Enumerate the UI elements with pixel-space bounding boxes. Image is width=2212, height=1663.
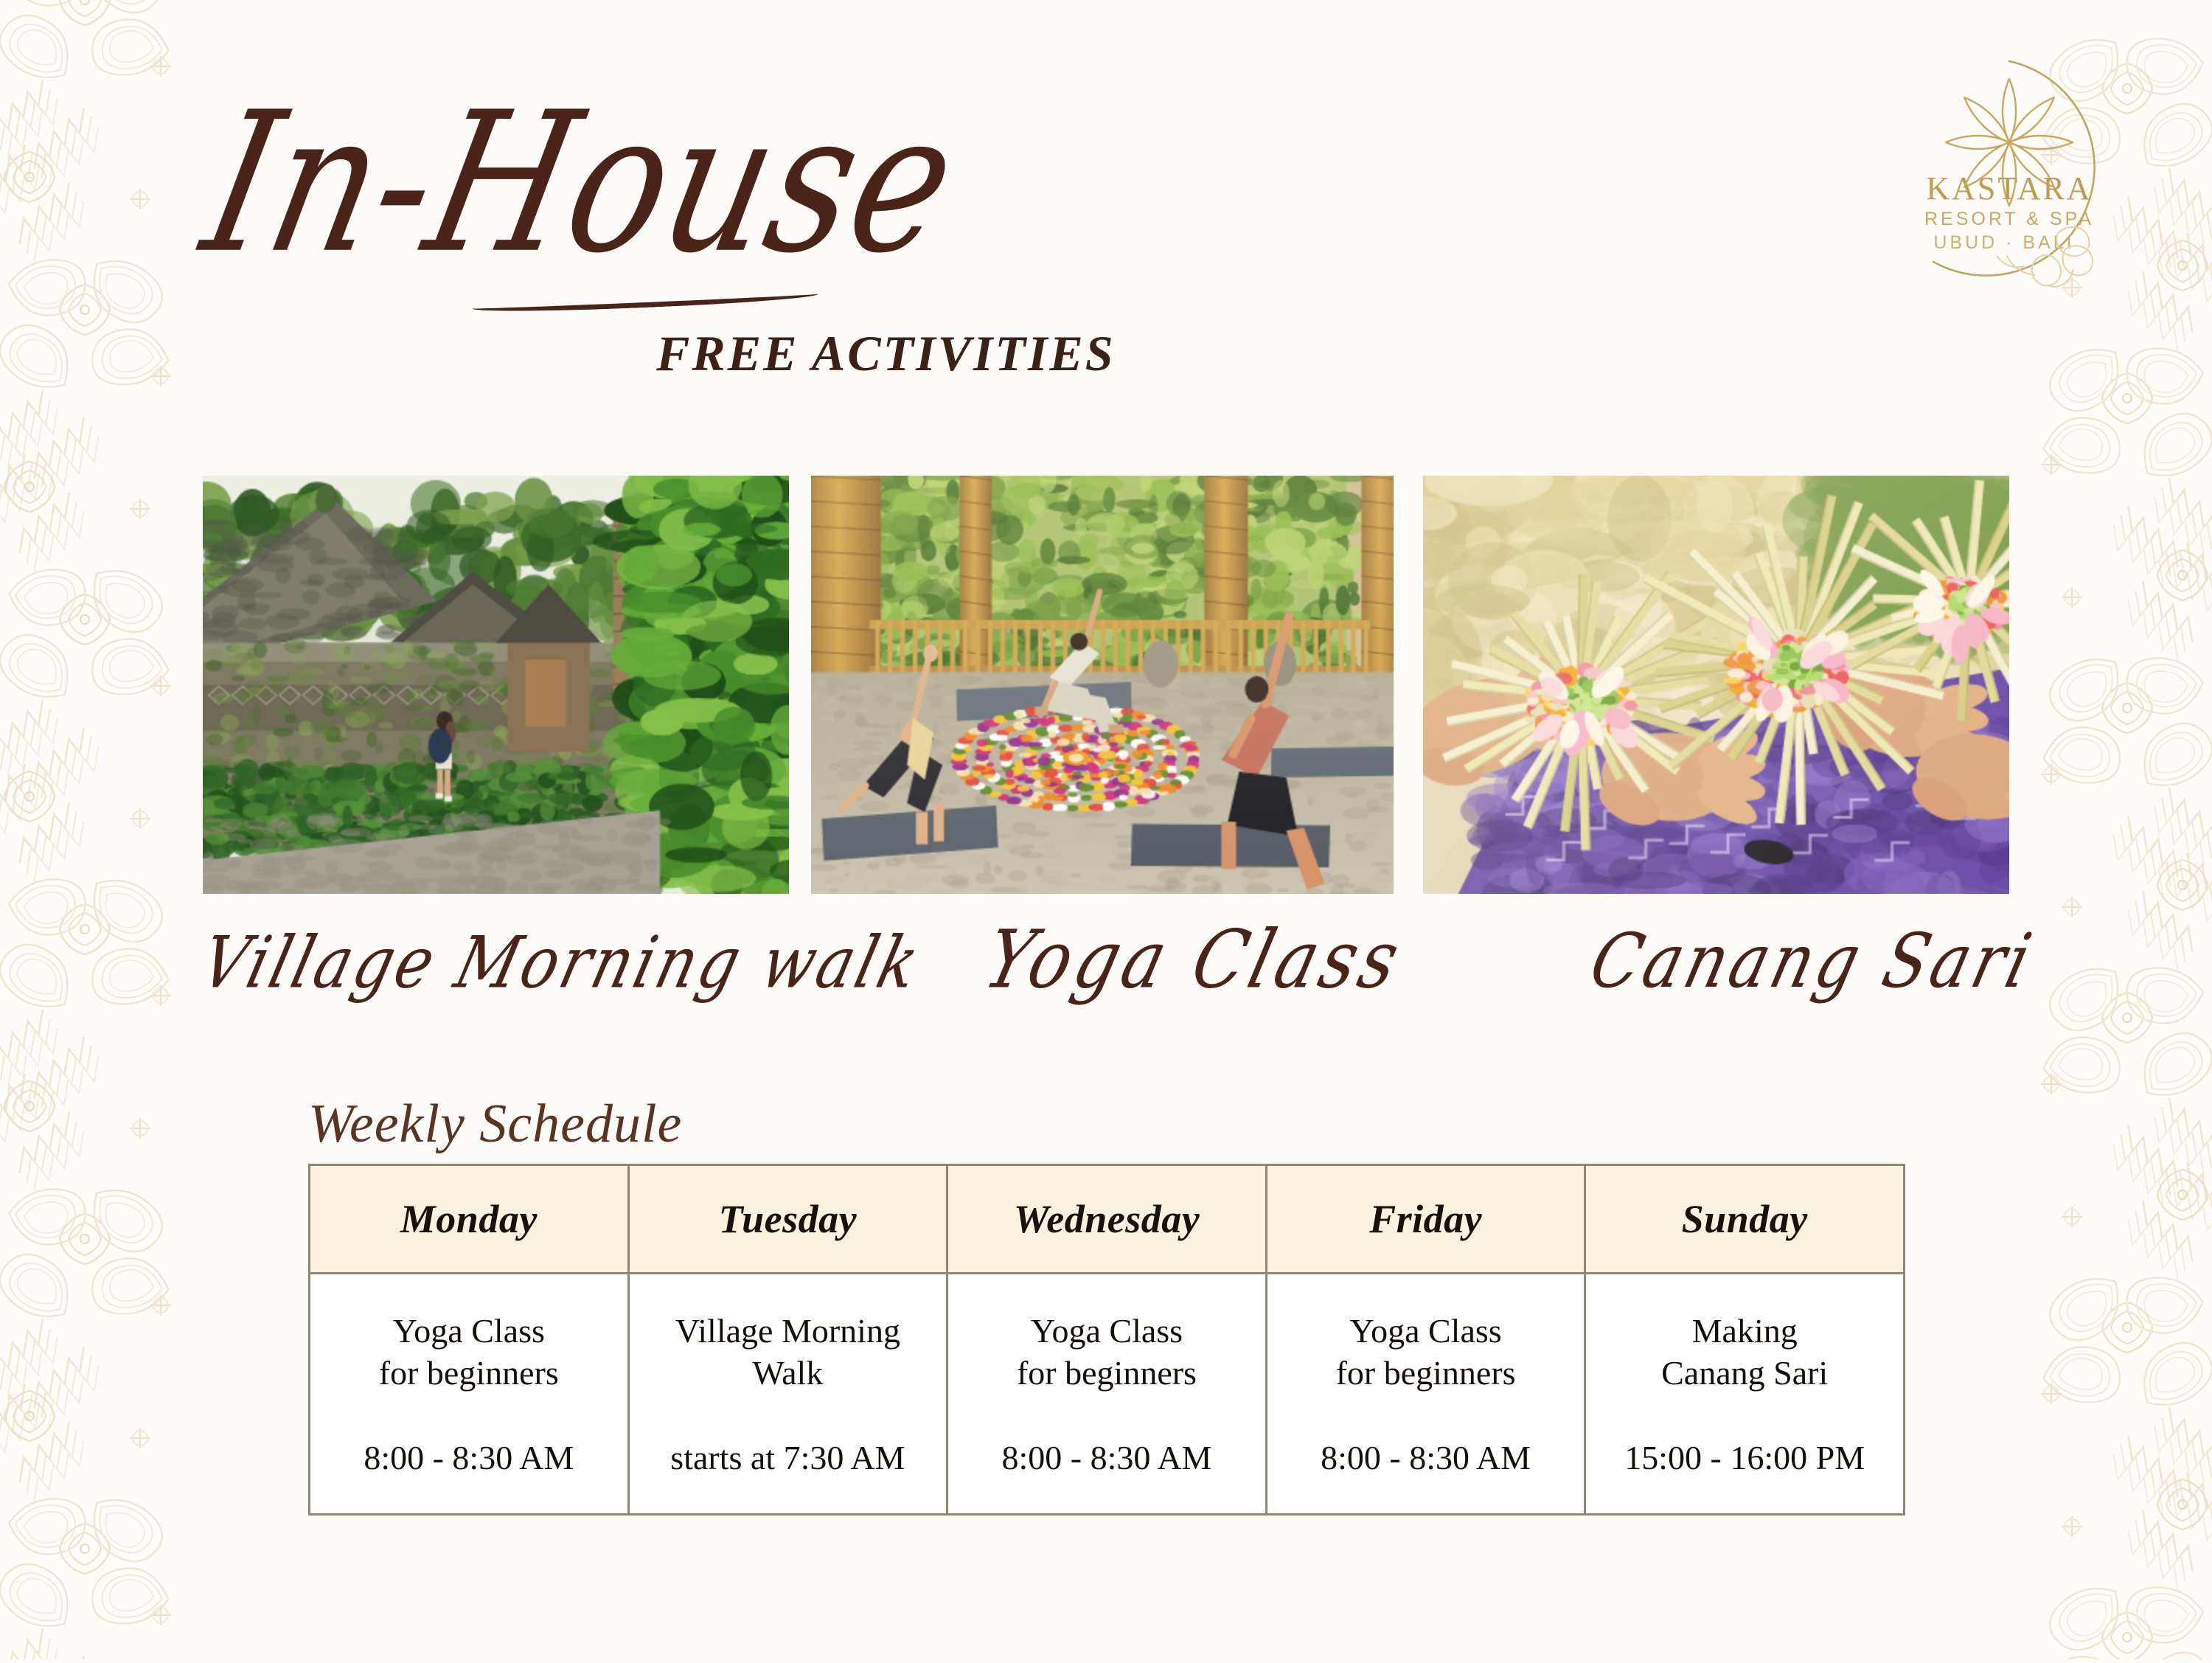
logo-location: UBUD · BALI (1933, 232, 2074, 253)
table-header-tuesday: Tuesday (628, 1165, 947, 1274)
weekly-schedule-table: Monday Tuesday Wednesday Friday Sunday Y… (308, 1164, 1905, 1516)
activity-time: 8:00 - 8:30 AM (1321, 1438, 1531, 1477)
table-header-row: Monday Tuesday Wednesday Friday Sunday (310, 1165, 1905, 1274)
table-header-wednesday: Wednesday (947, 1165, 1267, 1274)
weekly-schedule-title: Weekly Schedule (308, 1093, 682, 1156)
table-header-sunday: Sunday (1585, 1165, 1905, 1274)
caption-village-morning-walk: Village Morning walk (193, 922, 929, 1004)
photo-canang-sari (1423, 476, 2009, 894)
page-title: In-House (188, 70, 975, 296)
activity-time: 8:00 - 8:30 AM (1002, 1438, 1212, 1477)
caption-canang-sari: Canang Sari (1582, 918, 2043, 1005)
activity-time: starts at 7:30 AM (670, 1438, 905, 1477)
page-subtitle: FREE ACTIVITIES (656, 324, 1116, 383)
activity-photo-row (0, 476, 2212, 896)
logo-tagline: RESORT & SPA (1924, 209, 2094, 229)
activity-label: MakingCanang Sari (1661, 1310, 1828, 1393)
activity-time: 15:00 - 16:00 PM (1624, 1438, 1865, 1477)
photo-yoga-class (811, 476, 1394, 894)
table-cell-sunday: MakingCanang Sari 15:00 - 16:00 PM (1585, 1274, 1905, 1515)
kastara-logo: KASTARA RESORT & SPA UBUD · BALI (1888, 48, 2131, 299)
table-row: Yoga Classfor beginners 8:00 - 8:30 AM V… (310, 1274, 1905, 1515)
table-header-monday: Monday (310, 1165, 629, 1274)
activity-time: 8:00 - 8:30 AM (364, 1438, 574, 1477)
table-header-friday: Friday (1266, 1165, 1585, 1274)
page-header: In-House FREE ACTIVITIES (0, 0, 2212, 457)
table-cell-tuesday: Village MorningWalk starts at 7:30 AM (628, 1274, 947, 1515)
activity-label: Village MorningWalk (675, 1310, 900, 1393)
photo-village-morning-walk (203, 476, 789, 894)
table-cell-friday: Yoga Classfor beginners 8:00 - 8:30 AM (1266, 1274, 1585, 1515)
logo-name: KASTARA (1926, 170, 2092, 206)
caption-yoga-class: Yoga Class (976, 913, 1413, 1006)
table-cell-wednesday: Yoga Classfor beginners 8:00 - 8:30 AM (947, 1274, 1267, 1515)
activity-label: Yoga Classfor beginners (379, 1310, 559, 1393)
activity-label: Yoga Classfor beginners (1336, 1310, 1516, 1393)
table-cell-monday: Yoga Classfor beginners 8:00 - 8:30 AM (310, 1274, 629, 1515)
activity-label: Yoga Classfor beginners (1017, 1310, 1197, 1393)
